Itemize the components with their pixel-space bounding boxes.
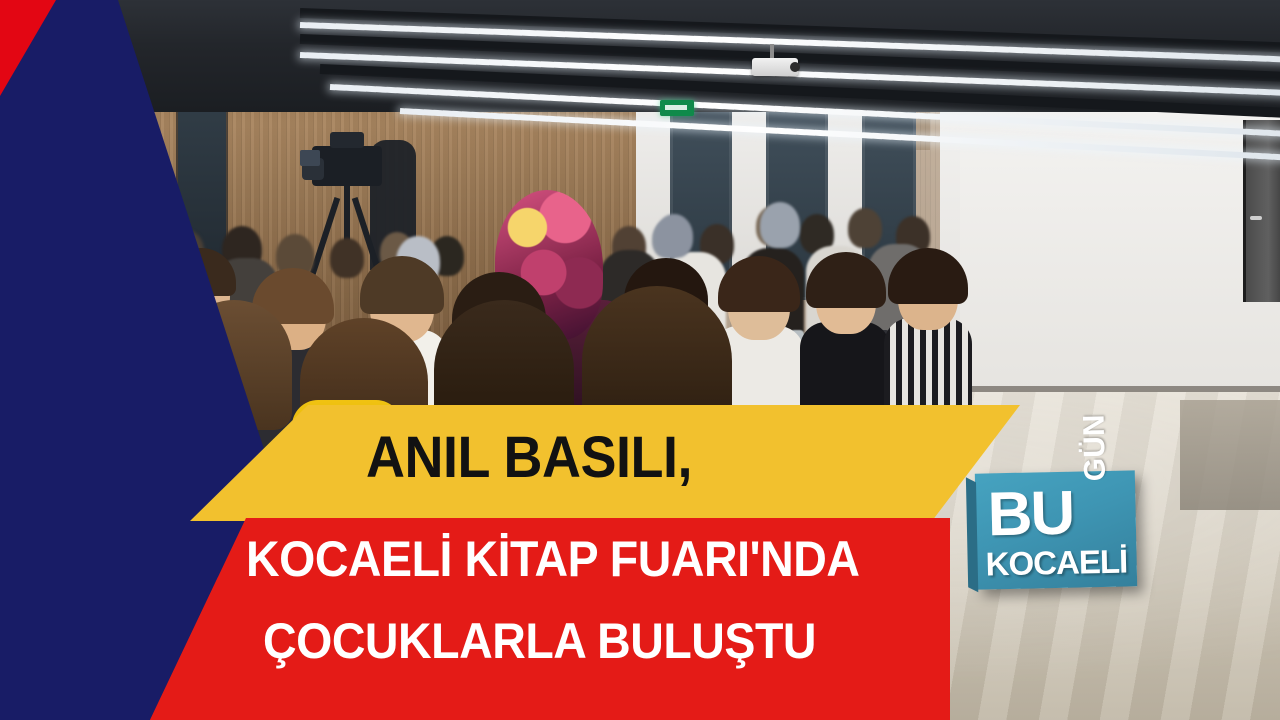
audience-member (330, 238, 364, 278)
headline-band-red (150, 518, 950, 720)
logo-text-gun: GÜN (1078, 414, 1113, 481)
logo-edge-shadow (966, 477, 978, 592)
bugun-kocaeli-logo[interactable]: BU GÜN KOCAELİ (975, 470, 1137, 589)
attendee-headscarf (760, 202, 800, 248)
attendee-headscarf (655, 214, 693, 258)
logo-text-kocaeli: KOCAELİ (985, 543, 1127, 584)
headline-band-yellow (190, 405, 1020, 521)
audience-member (848, 208, 882, 248)
logo-text-bu: BU (987, 478, 1074, 551)
news-thumbnail-image: ANIL BASILI, KOCAELİ KİTAP FUARI'NDA ÇOC… (0, 0, 1280, 720)
